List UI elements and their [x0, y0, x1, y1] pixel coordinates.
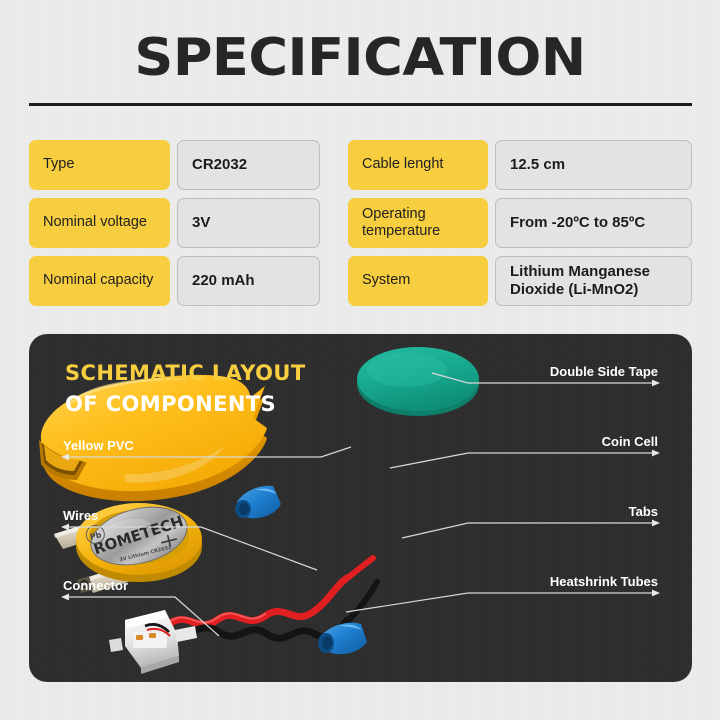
callout-coin-cell: Coin Cell — [432, 424, 662, 458]
title-divider — [29, 103, 692, 106]
spec-key-nominal-voltage: Nominal voltage — [29, 198, 170, 248]
spec-row: Nominal capacity 220 mAh — [29, 256, 320, 306]
spec-value-system: Lithium Manganese Dioxide (Li-MnO2) — [495, 256, 692, 306]
leader-line-tabs — [432, 494, 662, 528]
spec-row: System Lithium Manganese Dioxide (Li-MnO… — [348, 256, 692, 306]
schematic-panel: SCHEMATIC LAYOUT OF COMPONENTS — [29, 334, 692, 682]
spec-value-nominal-voltage: 3V — [177, 198, 320, 248]
spec-key-operating-temperature: Operating temperature — [348, 198, 488, 248]
spec-row: Operating temperature From -20ºC to 85ºC — [348, 198, 692, 248]
spec-value-operating-temperature: From -20ºC to 85ºC — [495, 198, 692, 248]
callout-yellow-pvc: Yellow PVC — [59, 428, 359, 462]
spec-value-type: CR2032 — [177, 140, 320, 190]
spec-column-left: Type CR2032 Nominal voltage 3V Nominal c… — [29, 140, 320, 310]
callout-double-side-tape: Double Side Tape — [432, 354, 662, 388]
spec-key-cable-lenght: Cable lenght — [348, 140, 488, 190]
spec-column-right: Cable lenght 12.5 cm Operating temperatu… — [348, 140, 692, 310]
schematic-title: SCHEMATIC LAYOUT OF COMPONENTS — [65, 361, 306, 416]
leader-line-double-side-tape — [432, 354, 662, 388]
spec-key-type: Type — [29, 140, 170, 190]
page-title: SPECIFICATION — [0, 28, 720, 88]
callout-connector: Connector — [59, 568, 359, 602]
schematic-title-line1: SCHEMATIC LAYOUT — [65, 361, 306, 385]
specification-page: SPECIFICATION Type CR2032 Nominal voltag… — [0, 0, 720, 720]
callout-wires: Wires — [59, 498, 359, 532]
callout-heatshrink-tubes: Heatshrink Tubes — [432, 564, 662, 598]
spec-row: Type CR2032 — [29, 140, 320, 190]
spec-value-cable-lenght: 12.5 cm — [495, 140, 692, 190]
leader-line-connector — [59, 568, 359, 642]
spec-row: Cable lenght 12.5 cm — [348, 140, 692, 190]
leader-line-wires — [59, 498, 359, 572]
callout-tabs: Tabs — [432, 494, 662, 528]
leader-line-heatshrink-tubes — [432, 564, 662, 598]
spec-value-nominal-capacity: 220 mAh — [177, 256, 320, 306]
leader-line-yellow-pvc — [59, 428, 359, 462]
spec-key-nominal-capacity: Nominal capacity — [29, 256, 170, 306]
specification-table: Type CR2032 Nominal voltage 3V Nominal c… — [0, 140, 720, 310]
spec-key-system: System — [348, 256, 488, 306]
spec-row: Nominal voltage 3V — [29, 198, 320, 248]
leader-line-coin-cell — [432, 424, 662, 458]
schematic-title-line2: OF COMPONENTS — [65, 392, 306, 416]
